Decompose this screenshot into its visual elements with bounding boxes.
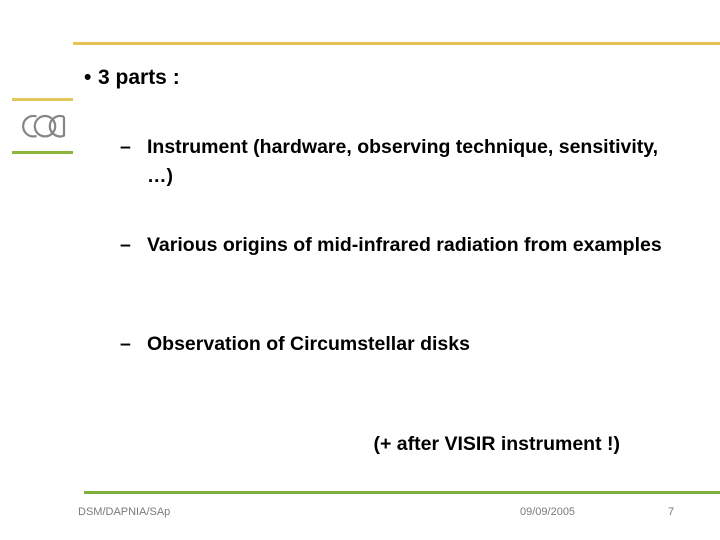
dash-icon: – [120,330,146,359]
cea-logo [12,98,74,156]
slide-canvas: •3 parts : – Instrument (hardware, obser… [0,0,720,540]
logo-bottom-rule [12,151,73,154]
bullet-level2-item: – Observation of Circumstellar disks [120,330,680,359]
footer-page-number: 7 [664,506,678,518]
bullet-level2-label: Various origins of mid-infrared radiatio… [147,231,680,260]
cea-wordmark-icon [12,106,74,146]
footer-organization: DSM/DAPNIA/SAp [78,506,170,518]
bullet-level2-label: Instrument (hardware, observing techniqu… [147,133,680,191]
closing-note: (+ after VISIR instrument !) [140,433,620,456]
footer-date: 09/09/2005 [520,506,575,518]
bullet-level1-label: 3 parts : [98,66,180,89]
bullet-level2-item: – Instrument (hardware, observing techni… [120,133,680,191]
bullet-dot-icon: • [84,64,98,92]
logo-top-rule [12,98,73,101]
bullet-level1: •3 parts : [84,64,180,92]
footer-divider-rule [84,491,720,494]
bullet-level2-item: – Various origins of mid-infrared radiat… [120,231,680,260]
header-divider-rule [73,42,720,45]
dash-icon: – [120,133,146,162]
bullet-level2-label: Observation of Circumstellar disks [147,330,680,359]
dash-icon: – [120,231,146,260]
slide-footer: DSM/DAPNIA/SAp 09/09/2005 7 [0,506,720,524]
